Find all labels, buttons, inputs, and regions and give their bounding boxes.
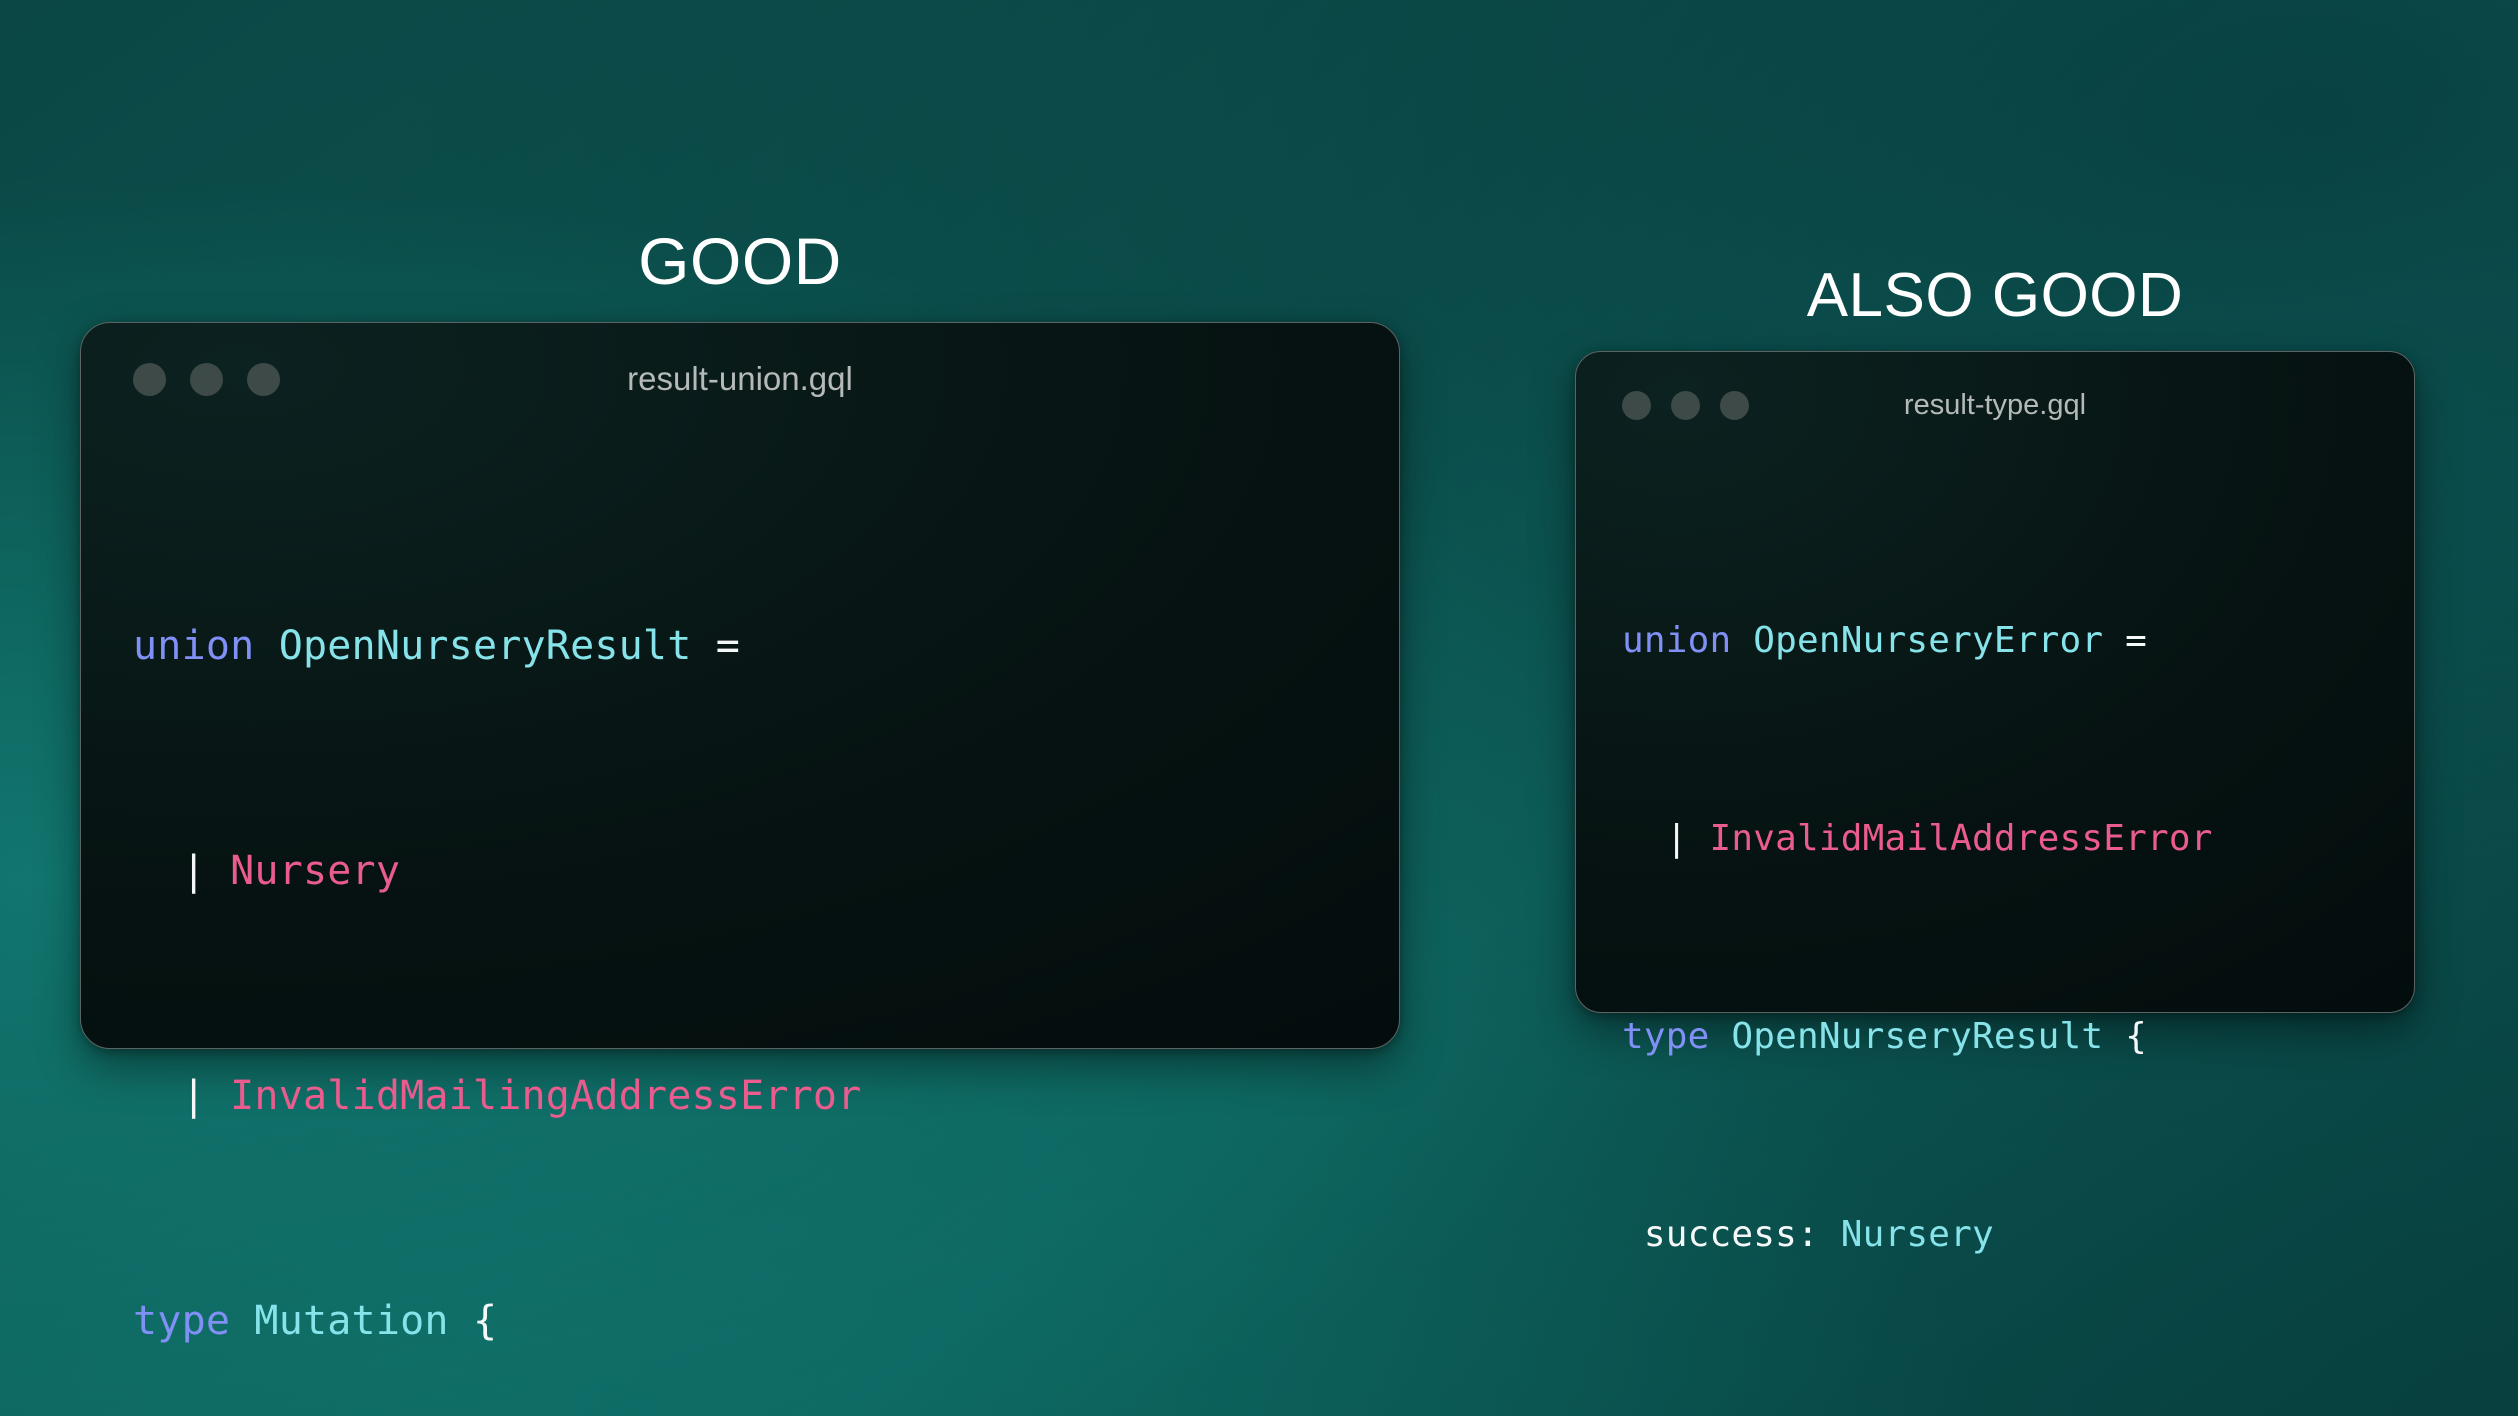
code-window-also-good: result-type.gql union OpenNurseryError =… (1575, 351, 2415, 1013)
code-token-plain: | (133, 848, 230, 894)
maximize-dot-icon[interactable] (1720, 391, 1749, 420)
code-line: type OpenNurseryResult { (1622, 1004, 2368, 1070)
code-token-error-type: InvalidMailAddressError (1710, 818, 2213, 859)
slide-stage: GOOD result-union.gql union OpenNurseryR… (0, 0, 2518, 1416)
code-token-plain: | (133, 1073, 230, 1119)
code-window-titlebar-good: result-union.gql (81, 323, 1399, 435)
code-token-keyword: type (133, 1298, 254, 1344)
close-dot-icon[interactable] (133, 363, 166, 396)
code-token-error-type: Nursery (230, 848, 400, 894)
code-line: union OpenNurseryResult = (133, 609, 1347, 684)
code-token-type: Nursery (1841, 1214, 1994, 1255)
code-line: union OpenNurseryError = (1622, 608, 2368, 674)
code-token-error-type: InvalidMailingAddressError (230, 1073, 861, 1119)
panel-also-good-heading: ALSO GOOD (1575, 265, 2415, 327)
panel-also-good: ALSO GOOD result-type.gql union OpenNurs… (1575, 265, 2415, 1013)
code-token-plain: success: (1622, 1214, 1841, 1255)
code-body-good: union OpenNurseryResult = | Nursery | In… (81, 435, 1399, 1416)
code-body-also-good: union OpenNurseryError = | InvalidMailAd… (1576, 458, 2414, 1416)
code-token-type: OpenNurseryResult (1731, 1016, 2125, 1057)
code-token-type: OpenNurseryError (1797, 1412, 2147, 1416)
code-token-type: Mutation (254, 1298, 473, 1344)
code-line: | Nursery (133, 834, 1347, 909)
code-token-plain: { (473, 1298, 497, 1344)
code-token-plain: error: (1622, 1412, 1797, 1416)
code-token-keyword: union (133, 623, 279, 669)
panel-good-heading: GOOD (80, 228, 1400, 294)
minimize-dot-icon[interactable] (190, 363, 223, 396)
code-token-plain: = (2125, 620, 2147, 661)
code-token-plain: = (716, 623, 740, 669)
code-line: | InvalidMailingAddressError (133, 1059, 1347, 1134)
code-window-good: result-union.gql union OpenNurseryResult… (80, 322, 1400, 1049)
traffic-light-dots-good (133, 363, 280, 396)
traffic-light-dots-also-good (1622, 391, 1749, 420)
code-token-keyword: union (1622, 620, 1753, 661)
code-line: type Mutation { (133, 1284, 1347, 1359)
close-dot-icon[interactable] (1622, 391, 1651, 420)
code-token-keyword: type (1622, 1016, 1731, 1057)
panel-good: GOOD result-union.gql union OpenNurseryR… (80, 228, 1400, 1049)
code-line: success: Nursery (1622, 1202, 2368, 1268)
code-token-type: OpenNurseryError (1753, 620, 2125, 661)
code-token-plain: | (1622, 818, 1710, 859)
maximize-dot-icon[interactable] (247, 363, 280, 396)
code-window-titlebar-also-good: result-type.gql (1576, 352, 2414, 458)
code-token-type: OpenNurseryResult (279, 623, 716, 669)
code-line: | InvalidMailAddressError (1622, 806, 2368, 872)
code-line: error: OpenNurseryError (1622, 1400, 2368, 1416)
minimize-dot-icon[interactable] (1671, 391, 1700, 420)
code-token-plain: { (2125, 1016, 2147, 1057)
